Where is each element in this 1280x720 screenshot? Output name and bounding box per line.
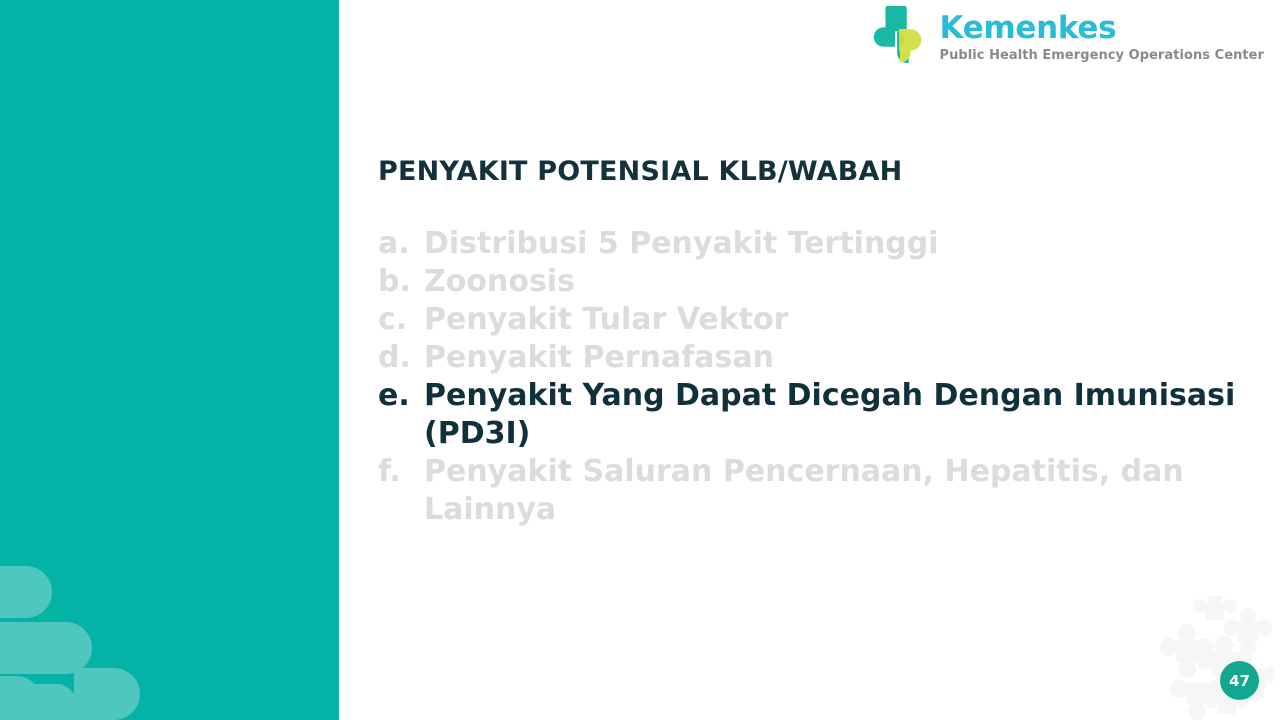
slide-content: PENYAKIT POTENSIAL KLB/WABAH a.Distribus… [378, 156, 1238, 529]
list-item-label: Penyakit Yang Dapat Dicegah Dengan Imuni… [424, 377, 1238, 453]
list-item-label: Zoonosis [424, 263, 1238, 301]
list-item: c.Penyakit Tular Vektor [378, 301, 1238, 339]
list-item: a.Distribusi 5 Penyakit Tertinggi [378, 225, 1238, 263]
list-item-marker: f. [378, 453, 424, 491]
topic-list: a.Distribusi 5 Penyakit Tertinggib.Zoono… [378, 225, 1238, 529]
kemenkes-clover-logo-icon [868, 6, 930, 68]
list-item-marker: b. [378, 263, 424, 301]
kemenkes-logo: Kemenkes Public Health Emergency Operati… [868, 6, 1264, 68]
list-item: f.Penyakit Saluran Pencernaan, Hepatitis… [378, 453, 1238, 529]
list-item-label: Penyakit Saluran Pencernaan, Hepatitis, … [424, 453, 1238, 529]
list-item-label: Distribusi 5 Penyakit Tertinggi [424, 225, 1238, 263]
list-item-marker: e. [378, 377, 424, 415]
list-item: e.Penyakit Yang Dapat Dicegah Dengan Imu… [378, 377, 1238, 453]
left-teal-panel [0, 0, 339, 720]
corner-batik-pattern-icon [1146, 596, 1274, 720]
page-number-badge: 47 [1220, 661, 1259, 700]
logo-wordmark: Kemenkes [940, 13, 1264, 44]
list-item-marker: c. [378, 301, 424, 339]
page-title: PENYAKIT POTENSIAL KLB/WABAH [378, 156, 1238, 187]
slide-canvas: Kemenkes Public Health Emergency Operati… [0, 0, 1280, 720]
logo-text-block: Kemenkes Public Health Emergency Operati… [940, 13, 1264, 62]
list-item-marker: d. [378, 339, 424, 377]
panel-decoration-petals-icon [0, 536, 196, 720]
list-item: b.Zoonosis [378, 263, 1238, 301]
list-item-label: Penyakit Tular Vektor [424, 301, 1238, 339]
logo-tagline: Public Health Emergency Operations Cente… [940, 49, 1264, 62]
list-item-label: Penyakit Pernafasan [424, 339, 1238, 377]
list-item: d.Penyakit Pernafasan [378, 339, 1238, 377]
list-item-marker: a. [378, 225, 424, 263]
